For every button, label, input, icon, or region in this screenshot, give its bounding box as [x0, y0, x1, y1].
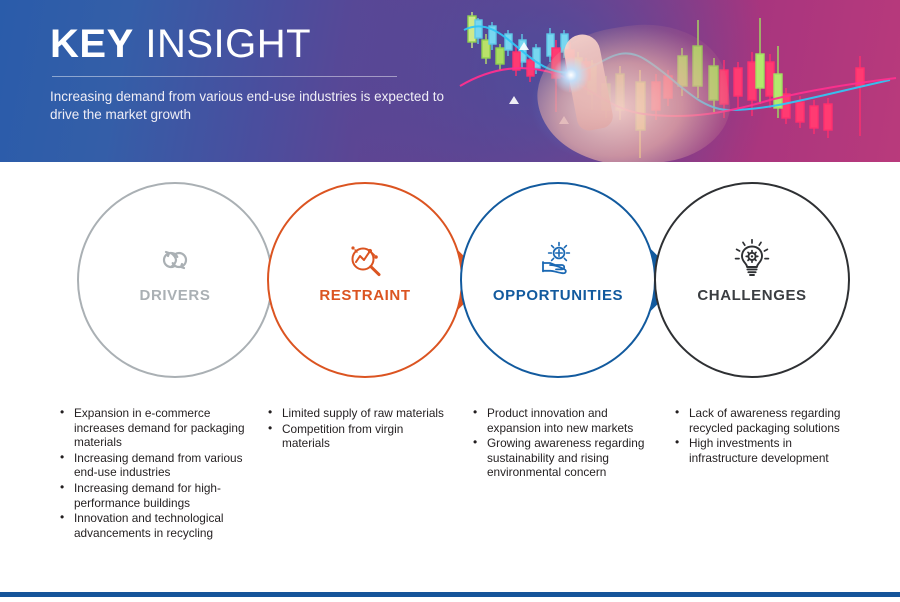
page-title-light: INSIGHT	[145, 22, 311, 66]
drivers-bullet-list: Expansion in e-commerce increases demand…	[57, 406, 249, 540]
column-opportunities: Product innovation and expansion into ne…	[470, 406, 650, 481]
list-item: Increasing demand for high-performance b…	[57, 481, 249, 510]
footer-divider	[0, 592, 900, 597]
title-divider	[52, 76, 397, 77]
opportunities-label: OPPORTUNITIES	[460, 287, 656, 304]
list-item: Product innovation and expansion into ne…	[470, 406, 650, 435]
flow-diagram: DRIVERS RESTRAINT	[0, 178, 900, 384]
flow-node-challenges[interactable]: CHALLENGES	[654, 182, 850, 378]
column-challenges: Lack of awareness regarding recycled pac…	[672, 406, 852, 466]
page-title-bold: KEY	[50, 22, 134, 66]
drivers-label: DRIVERS	[77, 287, 273, 304]
flow-node-restraint[interactable]: RESTRAINT	[267, 182, 463, 378]
list-item: Competition from virgin materials	[265, 422, 445, 451]
list-item: Growing awareness regarding sustainabili…	[470, 436, 650, 480]
touch-spark-icon	[552, 56, 590, 94]
flow-node-drivers[interactable]: DRIVERS	[77, 182, 273, 378]
restraint-label: RESTRAINT	[267, 287, 463, 304]
header-artwork	[430, 0, 900, 162]
list-item: High investments in infrastructure devel…	[672, 436, 852, 465]
list-item: Limited supply of raw materials	[265, 406, 445, 421]
lightbulb-gear-icon	[654, 238, 850, 282]
restraint-bullet-list: Limited supply of raw materials Competit…	[265, 406, 445, 451]
recycle-arrows-icon	[77, 238, 273, 282]
list-item: Increasing demand from various end-use i…	[57, 451, 249, 480]
header-banner: KEY INSIGHT Increasing demand from vario…	[0, 0, 900, 162]
page-subtitle: Increasing demand from various end-use i…	[50, 88, 470, 124]
opportunities-bullet-list: Product innovation and expansion into ne…	[470, 406, 650, 480]
flow-node-opportunities[interactable]: OPPORTUNITIES	[460, 182, 656, 378]
column-drivers: Expansion in e-commerce increases demand…	[57, 406, 249, 541]
magnifier-chart-icon	[267, 238, 463, 282]
challenges-bullet-list: Lack of awareness regarding recycled pac…	[672, 406, 852, 465]
list-item: Expansion in e-commerce increases demand…	[57, 406, 249, 450]
list-item: Lack of awareness regarding recycled pac…	[672, 406, 852, 435]
detail-columns: Expansion in e-commerce increases demand…	[0, 406, 900, 576]
column-restraint: Limited supply of raw materials Competit…	[265, 406, 445, 452]
challenges-label: CHALLENGES	[654, 287, 850, 304]
page-title: KEY INSIGHT	[50, 22, 480, 66]
list-item: Innovation and technological advancement…	[57, 511, 249, 540]
hand-holding-sun-icon	[460, 238, 656, 282]
